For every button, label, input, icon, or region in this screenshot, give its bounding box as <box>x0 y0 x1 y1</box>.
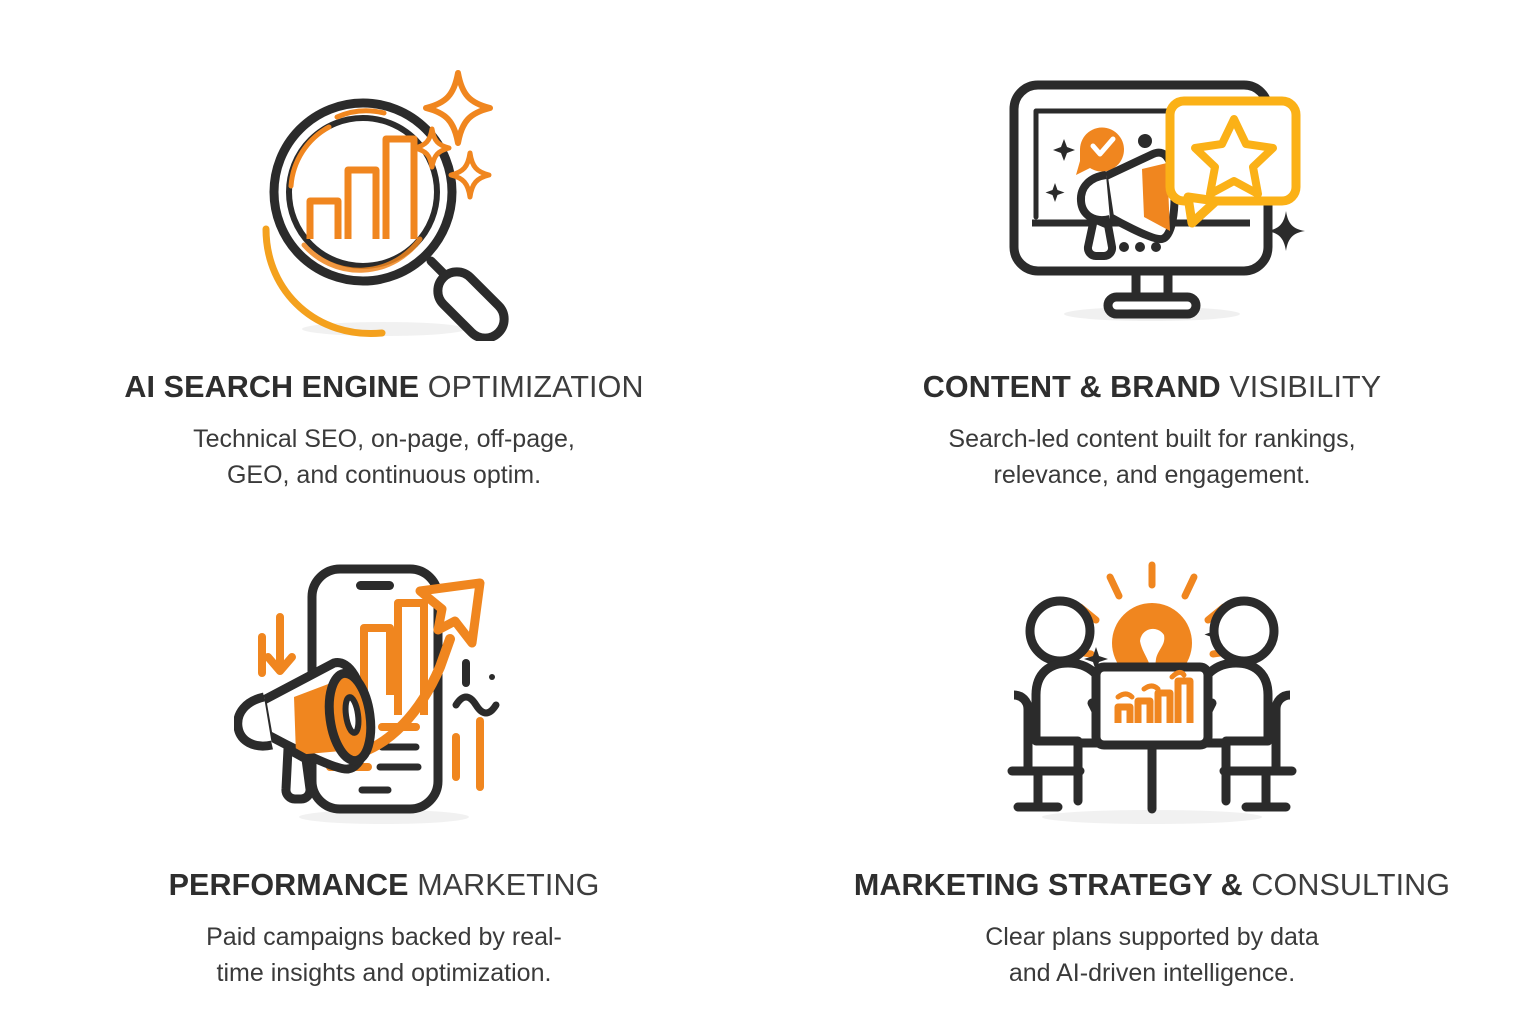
card-title-bold: AI SEARCH ENGINE <box>124 370 419 404</box>
card-description: Search-led content built for rankings, r… <box>948 421 1355 493</box>
monitor-megaphone-star-bubble-icon <box>982 58 1322 343</box>
card-title-light: OPTIMIZATION <box>428 370 644 404</box>
card-description-line-2: GEO, and continuous optim. <box>193 457 575 493</box>
card-description-line-2: relevance, and engagement. <box>948 457 1355 493</box>
card-description-line-1: Technical SEO, on-page, off-page, <box>193 421 575 457</box>
card-description-line-1: Search-led content built for rankings, <box>948 421 1355 457</box>
magnifier-bar-chart-sparkles-icon <box>214 58 554 343</box>
card-title-bold: CONTENT & BRAND <box>923 370 1221 404</box>
service-card-marketing-strategy-consulting[interactable]: MARKETING STRATEGY & CONSULTING Clear pl… <box>768 512 1536 1024</box>
card-description-line-2: time insights and optimization. <box>206 955 562 991</box>
phone-megaphone-growth-arrow-icon <box>214 550 554 835</box>
service-card-content-brand-visibility[interactable]: CONTENT & BRAND VISIBILITY Search-led co… <box>768 0 1536 512</box>
card-title: MARKETING STRATEGY & CONSULTING <box>854 869 1450 903</box>
service-card-ai-search-engine-optimization[interactable]: AI SEARCH ENGINE OPTIMIZATION Technical … <box>0 0 768 512</box>
card-title: AI SEARCH ENGINE OPTIMIZATION <box>124 371 643 405</box>
services-grid: AI SEARCH ENGINE OPTIMIZATION Technical … <box>0 0 1536 1024</box>
service-card-performance-marketing[interactable]: PERFORMANCE MARKETING Paid campaigns bac… <box>0 512 768 1024</box>
card-title-bold: MARKETING STRATEGY & <box>854 868 1243 902</box>
card-title-light: CONSULTING <box>1251 868 1450 902</box>
card-title: PERFORMANCE MARKETING <box>169 869 600 903</box>
card-description: Paid campaigns backed by real- time insi… <box>206 919 562 991</box>
card-title: CONTENT & BRAND VISIBILITY <box>923 371 1381 405</box>
card-title-bold: PERFORMANCE <box>169 868 409 902</box>
card-title-light: MARKETING <box>417 868 599 902</box>
card-description-line-2: and AI-driven intelligence. <box>985 955 1319 991</box>
meeting-table-lightbulb-icon <box>982 550 1322 835</box>
card-description: Clear plans supported by data and AI-dri… <box>985 919 1319 991</box>
card-description: Technical SEO, on-page, off-page, GEO, a… <box>193 421 575 493</box>
card-description-line-1: Paid campaigns backed by real- <box>206 919 562 955</box>
card-title-light: VISIBILITY <box>1229 370 1381 404</box>
card-description-line-1: Clear plans supported by data <box>985 919 1319 955</box>
